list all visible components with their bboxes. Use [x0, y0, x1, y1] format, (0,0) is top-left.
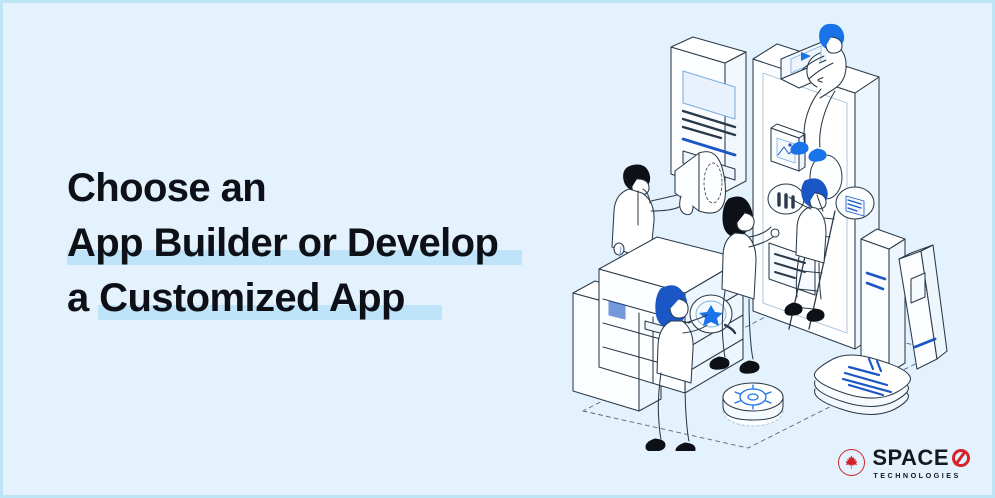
book-panels [861, 229, 947, 373]
maple-leaf-icon [838, 449, 865, 476]
brand-logo[interactable]: SPACE TECHNOLOGIES [838, 447, 970, 479]
headline-line-3: a Customized App [67, 271, 587, 326]
logo-tagline: TECHNOLOGIES [872, 472, 970, 479]
headline-line-2-text: App Builder or Develop [67, 221, 498, 265]
gear-disc [723, 383, 783, 426]
logo-name-text: SPACE [872, 447, 949, 469]
logo-main-row: SPACE [872, 447, 970, 469]
promo-banner: Choose an App Builder or Develop a Custo… [0, 0, 995, 498]
headline-line-2: App Builder or Develop [67, 216, 587, 271]
logo-slashed-o-icon [952, 449, 970, 467]
headline-line-3-text: a Customized App [67, 276, 405, 320]
logo-wordmark: SPACE TECHNOLOGIES [872, 447, 970, 479]
headline-line-1-text: Choose an [67, 166, 266, 210]
headline-line-1: Choose an [67, 161, 587, 216]
page-title: Choose an App Builder or Develop a Custo… [67, 161, 587, 326]
app-development-isometric-illustration [543, 11, 963, 451]
